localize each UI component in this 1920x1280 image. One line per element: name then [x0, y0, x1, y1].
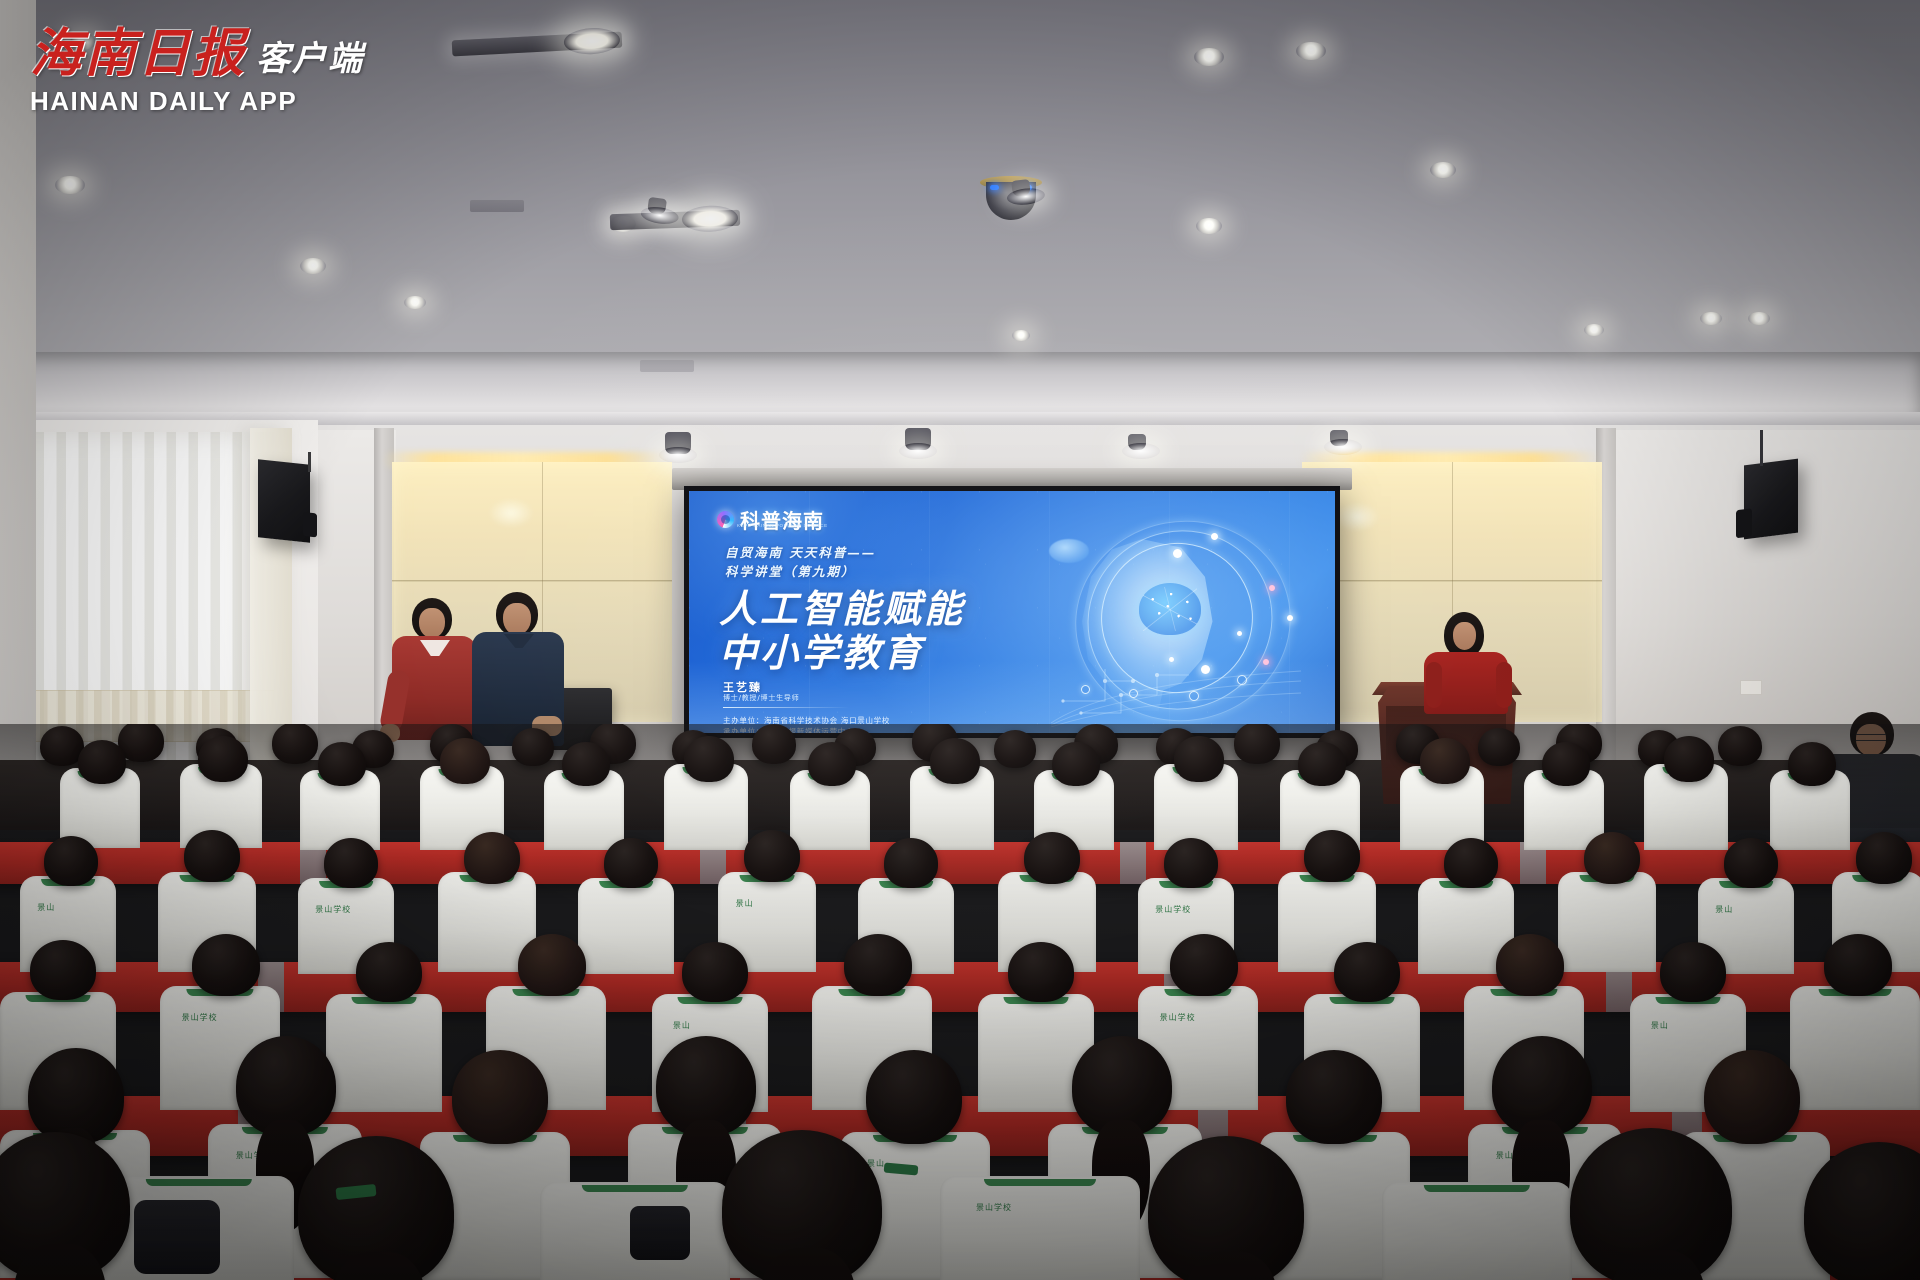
- audience-head: [604, 838, 658, 888]
- slide-kicker-line1: 自贸海南 天天科普——: [725, 543, 876, 562]
- uniform-collar: [984, 1179, 1096, 1186]
- wall-speaker-left: [258, 459, 310, 542]
- student-uniform: [578, 878, 674, 974]
- audience-head: [1304, 830, 1360, 882]
- recessed-downlight: [1194, 48, 1224, 66]
- recessed-downlight: [1748, 312, 1770, 325]
- uniform-collar: [1424, 1185, 1530, 1192]
- audience-head: [30, 940, 96, 1000]
- camera-status-led: [990, 185, 999, 190]
- ceiling-air-vent: [470, 200, 524, 212]
- audience-head: [198, 736, 248, 782]
- audience-head: [884, 838, 938, 888]
- audience-head: [1824, 934, 1892, 996]
- projection-screen: 科普海南 KEPU HAINAN POPULAR SCIENCE 自贸海南 天天…: [684, 486, 1340, 738]
- speaker-cable: [308, 452, 311, 472]
- uniform-collar: [582, 1185, 688, 1192]
- recessed-downlight: [1700, 312, 1722, 325]
- track-spotlight: [665, 432, 691, 454]
- audience-head: [994, 730, 1036, 768]
- audience-head: [440, 738, 490, 784]
- panel-light-reflection: [488, 498, 534, 528]
- ai-head-artwork: [1051, 509, 1301, 727]
- track-spotlight: [1330, 430, 1348, 446]
- speaker-arm-left: [1426, 662, 1442, 708]
- audience-head: [1444, 838, 1498, 888]
- ai-light-blob: [1049, 539, 1089, 563]
- ai-orbit-node: [1211, 533, 1218, 540]
- recessed-downlight: [1430, 162, 1456, 178]
- audience-head: [1788, 742, 1836, 786]
- uniform-school-text: 景山: [673, 1020, 691, 1031]
- slide-kicker: 自贸海南 天天科普—— 科学讲堂（第九期）: [725, 543, 876, 582]
- uniform-school-text: 景山: [736, 898, 754, 909]
- watermark-chinese-main: 海南日报: [30, 28, 246, 80]
- recessed-downlight: [1012, 330, 1030, 341]
- student-audience: 景山 景山学校 景山 景山学校 景山 景山学校: [0, 724, 1920, 1280]
- audience-head: [1298, 742, 1346, 786]
- audience-head: [184, 830, 240, 882]
- audience-head: [1542, 742, 1590, 786]
- wall-speaker-right: [1744, 459, 1798, 540]
- recessed-downlight: [1196, 218, 1222, 234]
- uniform-school-text: 景山学校: [976, 1202, 1012, 1213]
- audience-head: [78, 740, 126, 784]
- slide-title: 人工智能赋能 中小学教育: [719, 587, 965, 676]
- audience-head: [1718, 726, 1762, 766]
- slide-logo: 科普海南: [717, 505, 824, 534]
- face: [503, 603, 531, 635]
- audience-head-near: [1286, 1050, 1382, 1144]
- audience-head: [192, 934, 260, 996]
- speaker-bracket: [1736, 508, 1752, 538]
- watermark-english: HAINAN DAILY APP: [30, 86, 364, 117]
- audience-head: [1420, 738, 1470, 784]
- audience-head: [1478, 728, 1520, 766]
- audience-head: [1664, 736, 1714, 782]
- audience-head: [1856, 832, 1912, 884]
- recessed-downlight: [300, 258, 326, 274]
- audience-head: [752, 724, 796, 764]
- audience-head: [512, 728, 554, 766]
- track-spotlight: [647, 197, 667, 215]
- audience-head: [1052, 742, 1100, 786]
- audience-head: [682, 942, 748, 1002]
- track-spotlight: [905, 428, 931, 450]
- audience-head: [1584, 832, 1640, 884]
- recessed-downlight: [404, 296, 426, 309]
- photo-canvas: 科普海南 KEPU HAINAN POPULAR SCIENCE 自贸海南 天天…: [0, 0, 1920, 1280]
- audience-head: [324, 838, 378, 888]
- slide-title-line1: 人工智能赋能: [719, 587, 965, 631]
- slide-title-line2: 中小学教育: [719, 631, 965, 675]
- audience-head: [744, 830, 800, 882]
- audience-head: [44, 836, 98, 886]
- uniform-school-text: 景山学校: [1160, 1012, 1196, 1023]
- recessed-downlight: [55, 176, 85, 194]
- audience-head: [844, 934, 912, 996]
- audience-head: [518, 934, 586, 996]
- face: [419, 608, 445, 638]
- audience-head-near: [1704, 1050, 1800, 1144]
- recessed-downlight: [1584, 324, 1604, 336]
- audience-head: [1170, 934, 1238, 996]
- audience-head: [930, 738, 980, 784]
- ceiling-air-vent: [640, 360, 694, 372]
- uniform-school-text: 景山学校: [182, 1012, 218, 1023]
- audience-head: [318, 742, 366, 786]
- speaker-bracket: [303, 512, 317, 537]
- slide-divider: [723, 707, 849, 708]
- uniform-school-text: 景山: [1651, 1020, 1669, 1031]
- left-wall-return: [0, 0, 36, 800]
- ai-orbit-node: [1237, 631, 1242, 636]
- student-uniform: [1790, 986, 1920, 1110]
- audience-head: [684, 736, 734, 782]
- student-uniform-foreground: 景山学校: [940, 1176, 1140, 1280]
- ai-orbit-node: [1173, 549, 1182, 558]
- speaker-arm-right: [1496, 662, 1512, 708]
- audience-head: [356, 942, 422, 1002]
- audience-head: [1008, 942, 1074, 1002]
- audience-head: [562, 742, 610, 786]
- seat-divider: [1120, 842, 1146, 884]
- ai-orbit-node: [1287, 615, 1293, 621]
- ai-orbit-node: [1263, 659, 1269, 665]
- audience-head: [1024, 832, 1080, 884]
- audience-head: [1234, 724, 1280, 764]
- recessed-downlight: [1296, 42, 1326, 60]
- audience-head: [1724, 838, 1778, 888]
- slide-speaker-credentials: 博士/教授/博士生导师: [723, 693, 800, 703]
- audience-head: [272, 724, 318, 764]
- speaker-cable: [1760, 430, 1763, 466]
- uniform-school-text: 景山: [37, 902, 55, 913]
- audience-head: [464, 832, 520, 884]
- audience-head: [1496, 934, 1564, 996]
- wall-outlet: [1740, 680, 1762, 695]
- slide-logo-text: 科普海南: [740, 505, 824, 534]
- audience-head: [808, 742, 856, 786]
- backpack: [134, 1200, 220, 1274]
- ai-light-swoosh: [1051, 667, 1301, 727]
- track-spotlight: [1011, 179, 1031, 197]
- kepu-logo-mark-icon: [717, 511, 734, 528]
- audience-head-near: [866, 1050, 962, 1144]
- uniform-school-text: 景山: [1715, 904, 1733, 915]
- watermark-chinese-sub: 客户端: [256, 42, 364, 80]
- audience-head: [1660, 942, 1726, 1002]
- uniform-collar: [146, 1179, 252, 1186]
- audience-head: [1174, 736, 1224, 782]
- track-spotlight: [1128, 434, 1146, 450]
- panel-light-reflection: [1334, 502, 1380, 532]
- uniform-school-text: 景山学校: [1155, 904, 1191, 915]
- audience-head-near: [452, 1050, 548, 1144]
- uniform-school-text: 景山学校: [315, 904, 351, 915]
- presentation-slide: 科普海南 KEPU HAINAN POPULAR SCIENCE 自贸海南 天天…: [689, 491, 1335, 733]
- backpack: [630, 1206, 690, 1260]
- audience-head: [1164, 838, 1218, 888]
- student-uniform: [1558, 872, 1656, 972]
- ai-orbit-node: [1269, 585, 1275, 591]
- student-uniform-foreground: [1382, 1182, 1572, 1280]
- student-uniform: [326, 994, 442, 1112]
- slide-kicker-line2: 科学讲堂（第九期）: [725, 562, 876, 581]
- slide-logo-subtext: KEPU HAINAN POPULAR SCIENCE: [737, 523, 828, 528]
- audience-head: [1334, 942, 1400, 1002]
- hainan-daily-app-watermark: 海南日报 客户端 HAINAN DAILY APP: [30, 28, 364, 117]
- speaker-face: [1453, 622, 1476, 650]
